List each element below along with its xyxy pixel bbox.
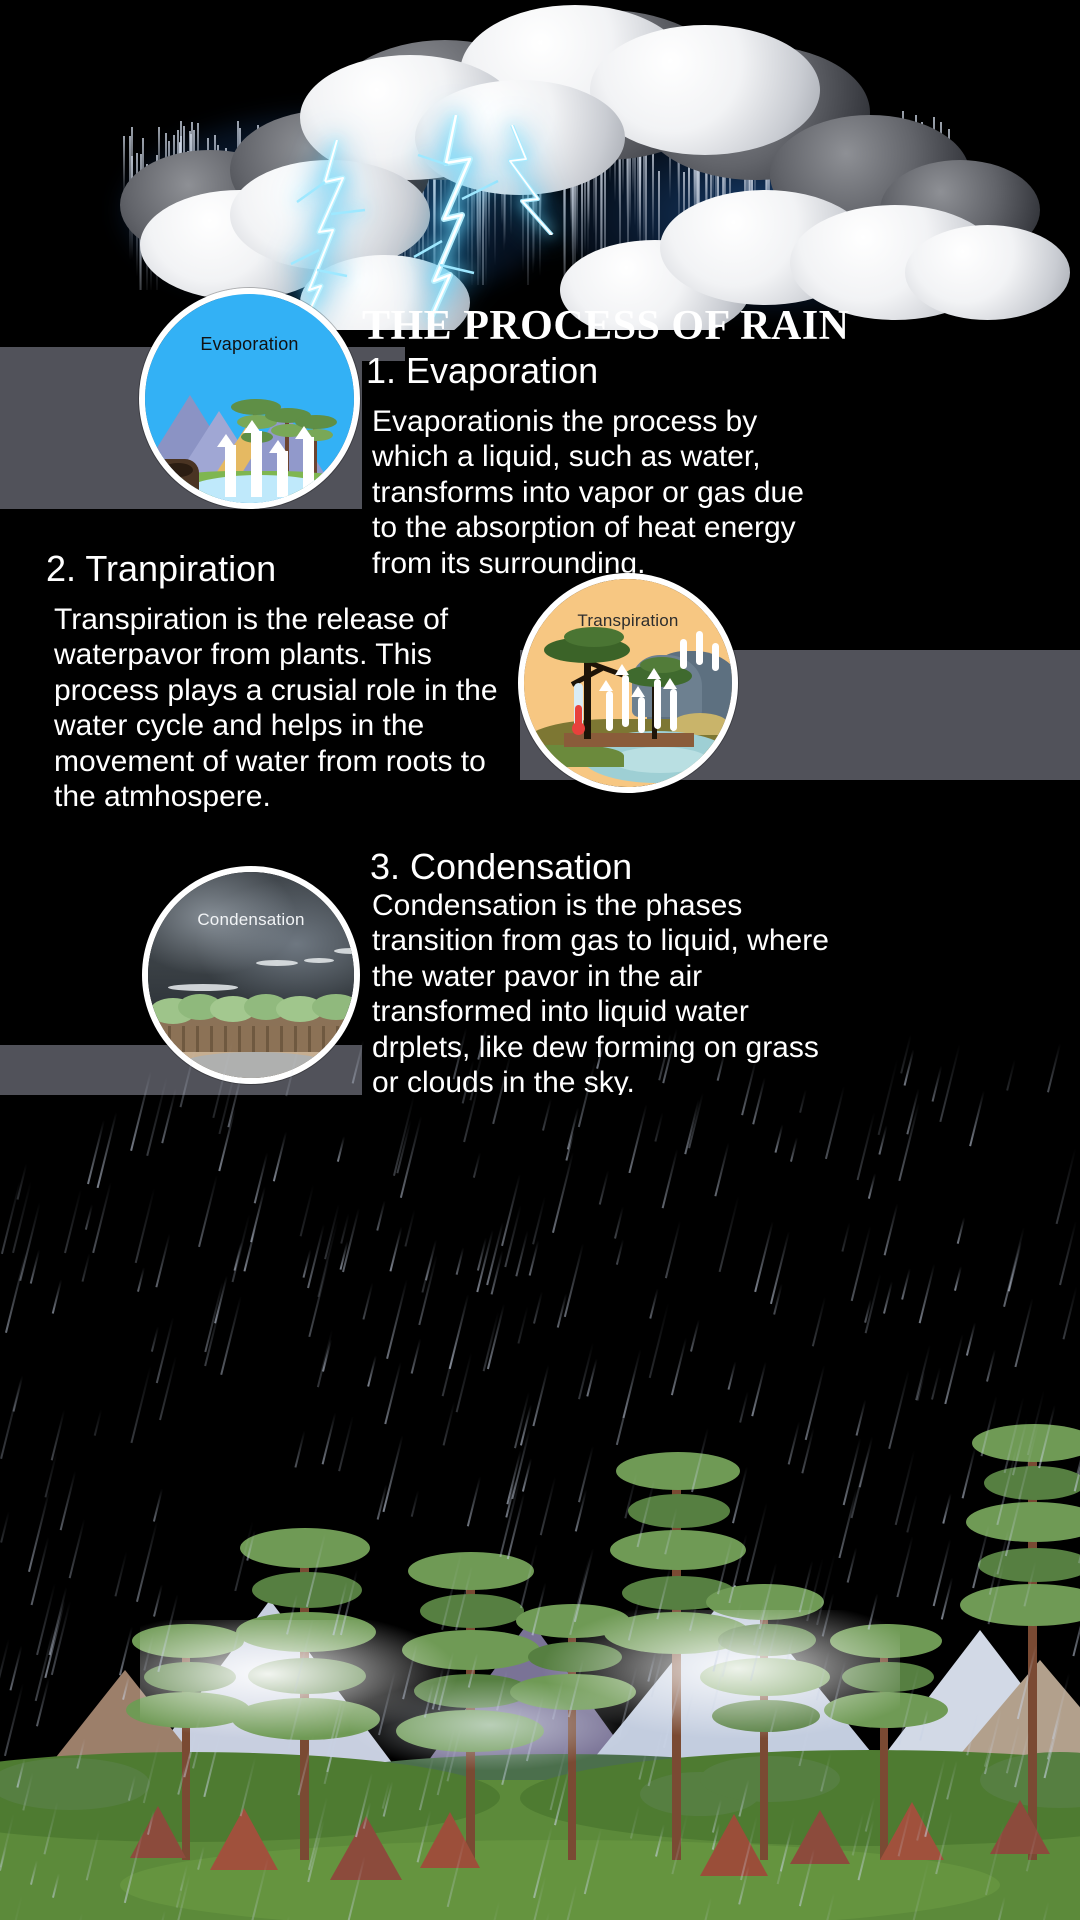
condensation-circle-label: Condensation xyxy=(148,910,354,930)
evaporation-circle-image: Evaporation xyxy=(139,288,360,509)
section-2-heading: 2. Tranpiration xyxy=(46,550,526,588)
condensation-circle-image: Condensation xyxy=(142,866,360,1084)
evaporation-circle-label: Evaporation xyxy=(145,334,354,355)
storm-clouds-illustration xyxy=(0,0,1080,330)
page-title: THE PROCESS OF RAIN xyxy=(362,302,850,350)
lightning-bolt-right xyxy=(500,125,610,235)
section-1-heading: 1. Evaporation xyxy=(366,352,886,390)
transpiration-circle-label: Transpiration xyxy=(524,611,732,631)
section-3-heading: 3. Condensation xyxy=(370,848,890,886)
transpiration-circle-image: Transpiration xyxy=(518,573,738,793)
section-3-body: Condensation is the phases transition fr… xyxy=(372,888,842,1100)
fence xyxy=(148,1026,360,1052)
section-2-body: Transpiration is the release of waterpav… xyxy=(54,602,524,814)
rainy-forest-illustration xyxy=(0,1095,1080,1920)
